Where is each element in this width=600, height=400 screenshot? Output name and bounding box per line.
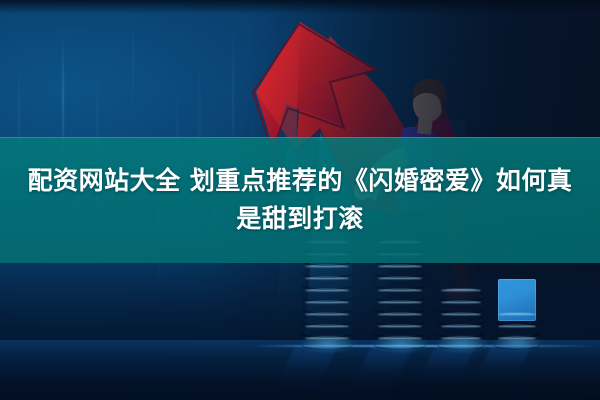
coin-stack-4-glow <box>493 336 543 350</box>
title-line-1: 配资网站大全 划重点推荐的《闪婚密爱》如何真 <box>28 162 573 200</box>
image-canvas: 配资网站大全 划重点推荐的《闪婚密爱》如何真 是甜到打滚 <box>0 0 600 400</box>
coin-stack-2-glow <box>373 336 429 352</box>
coin-stack-1-glow <box>300 336 356 352</box>
title-overlay-band: 配资网站大全 划重点推荐的《闪婚密爱》如何真 是甜到打滚 <box>0 137 600 263</box>
top-shade <box>0 0 600 14</box>
title-line-2: 是甜到打滚 <box>236 200 364 238</box>
coin-stack-3-glow <box>436 336 488 352</box>
